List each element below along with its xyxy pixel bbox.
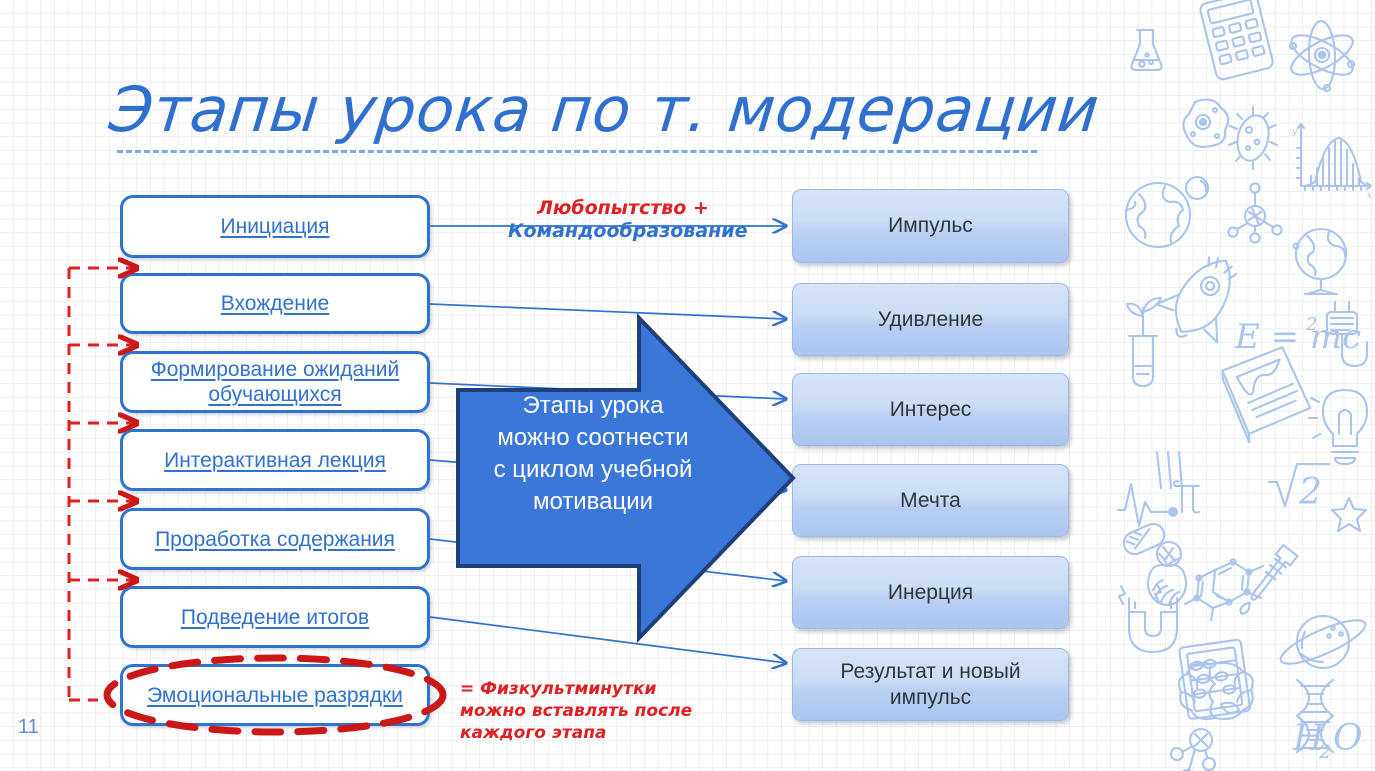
stage-box-content-work[interactable]: Проработка содержания [120, 508, 430, 570]
page-title: Этапы урока по т. модерации [105, 62, 1075, 158]
slide-canvas: Этапы урока по т. модерации 11 Инициация… [0, 0, 1375, 771]
saturn-icon [1276, 612, 1370, 671]
stage-box-expectations[interactable]: Формирование ожиданий обучающихся [120, 351, 430, 413]
calculator-icon [1199, 0, 1274, 81]
annotation-bottom: = Физкультминутки можно вставлять после … [460, 678, 730, 744]
doodle-svg: y x [1117, 0, 1375, 771]
globe-icon [1126, 183, 1190, 247]
heartbeat-icon [1117, 484, 1177, 526]
stage-label: Интерактивная лекция [156, 448, 394, 473]
slide-number: 11 [18, 716, 39, 739]
amoeba-icon [1183, 100, 1228, 147]
doodle-axis-y-label: y [1291, 127, 1298, 137]
molecule-icon [1228, 183, 1281, 242]
emotion-box-impulse[interactable]: Импульс [792, 189, 1069, 263]
abacus-icon [1179, 639, 1250, 719]
center-arrow-text: Этапы урока можно соотнести с циклом уче… [468, 390, 718, 518]
emotion-label: Импульс [878, 213, 983, 239]
sqrt-two-icon: 2 [1269, 464, 1329, 513]
annotation-top-line1: Любопытство + [508, 197, 738, 220]
bacteria-icon [1229, 107, 1277, 169]
doodle-einstein-exponent: 2 [1305, 314, 1317, 335]
emotion-label: Мечта [890, 488, 971, 514]
bell-curve-graph-icon: y x [1291, 124, 1372, 201]
doodle-water-o: O [1333, 718, 1363, 759]
rain-lines-icon [1157, 452, 1182, 488]
annotation-top-line2: Командообразование [508, 220, 738, 243]
title-block: Этапы урока по т. модерации [110, 62, 1070, 162]
emotion-box-interest[interactable]: Интерес [792, 373, 1069, 446]
stage-label: Проработка содержания [147, 527, 403, 552]
stage-box-summary[interactable]: Подведение итогов [120, 586, 430, 648]
apple-icon [1148, 554, 1186, 605]
benzene-icon [1185, 559, 1263, 620]
stage-label: Инициация [213, 214, 338, 239]
doodle-sqrt-text: 2 [1298, 472, 1322, 513]
flask-icon [1132, 30, 1162, 70]
pill-icon [1120, 520, 1181, 566]
doodle-axis-x-label: x [1367, 191, 1372, 201]
emotion-label: Удивление [868, 307, 993, 333]
pi-icon [1174, 481, 1199, 513]
lightbulb-icon [1309, 390, 1367, 464]
moon-icon [1186, 177, 1208, 199]
stage-box-emotional-release[interactable]: Эмоциональные разрядки [120, 664, 430, 726]
emotion-box-dream[interactable]: Мечта [792, 464, 1069, 537]
connector-entry-to-surprise [430, 304, 786, 319]
star-icon [1332, 498, 1366, 531]
globe-stand-icon [1294, 229, 1346, 294]
annotation-top: Любопытство + Командообразование [508, 197, 738, 243]
connector-summary-to-result [430, 617, 786, 663]
emotion-label: Результат и новый импульс [793, 659, 1068, 711]
emotion-box-result-new-impulse[interactable]: Результат и новый импульс [792, 648, 1069, 721]
emotion-label: Интерес [880, 397, 982, 423]
doodle-water-sub: 2 [1318, 741, 1331, 763]
stage-box-entry[interactable]: Вхождение [120, 273, 430, 334]
doodle-pattern-panel: y x [1117, 0, 1375, 771]
emotion-label: Инерция [878, 580, 983, 606]
molecule-bottom-icon [1171, 729, 1215, 771]
emotion-box-surprise[interactable]: Удивление [792, 283, 1069, 356]
title-underline-rule [117, 150, 1037, 153]
stage-label: Вхождение [213, 291, 337, 316]
stage-label: Эмоциональные разрядки [139, 683, 411, 708]
book-icon [1219, 345, 1315, 445]
stage-box-initiation[interactable]: Инициация [120, 195, 430, 258]
stage-label: Формирование ожиданий обучающихся [123, 357, 427, 407]
stage-box-interactive-lecture[interactable]: Интерактивная лекция [120, 429, 430, 491]
water-formula-icon: H 2 O [1292, 718, 1363, 763]
magnet-icon [1119, 584, 1177, 652]
atom-icon [1286, 21, 1358, 91]
connector-content-to-inertia [430, 539, 786, 581]
emotion-box-inertia[interactable]: Инерция [792, 556, 1069, 629]
stage-label: Подведение итогов [173, 605, 377, 630]
test-tube-plant-icon [1127, 298, 1161, 386]
